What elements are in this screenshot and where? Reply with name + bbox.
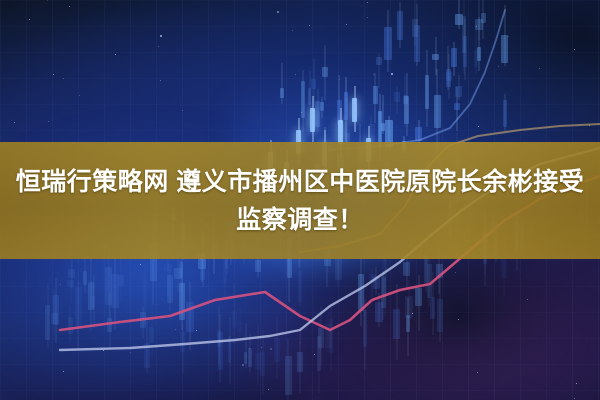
banner-image: 恒瑞行策略网 遵义市播州区中医院原院长余彬接受 监察调查！: [0, 0, 600, 400]
headline-block: 恒瑞行策略网 遵义市播州区中医院原院长余彬接受 监察调查！: [0, 142, 600, 259]
trend-line-blue-curve-upper: [330, 10, 505, 150]
headline-line-1: 恒瑞行策略网 遵义市播州区中医院原院长余彬接受: [10, 164, 590, 200]
headline-line-2: 监察调查！: [230, 202, 370, 238]
